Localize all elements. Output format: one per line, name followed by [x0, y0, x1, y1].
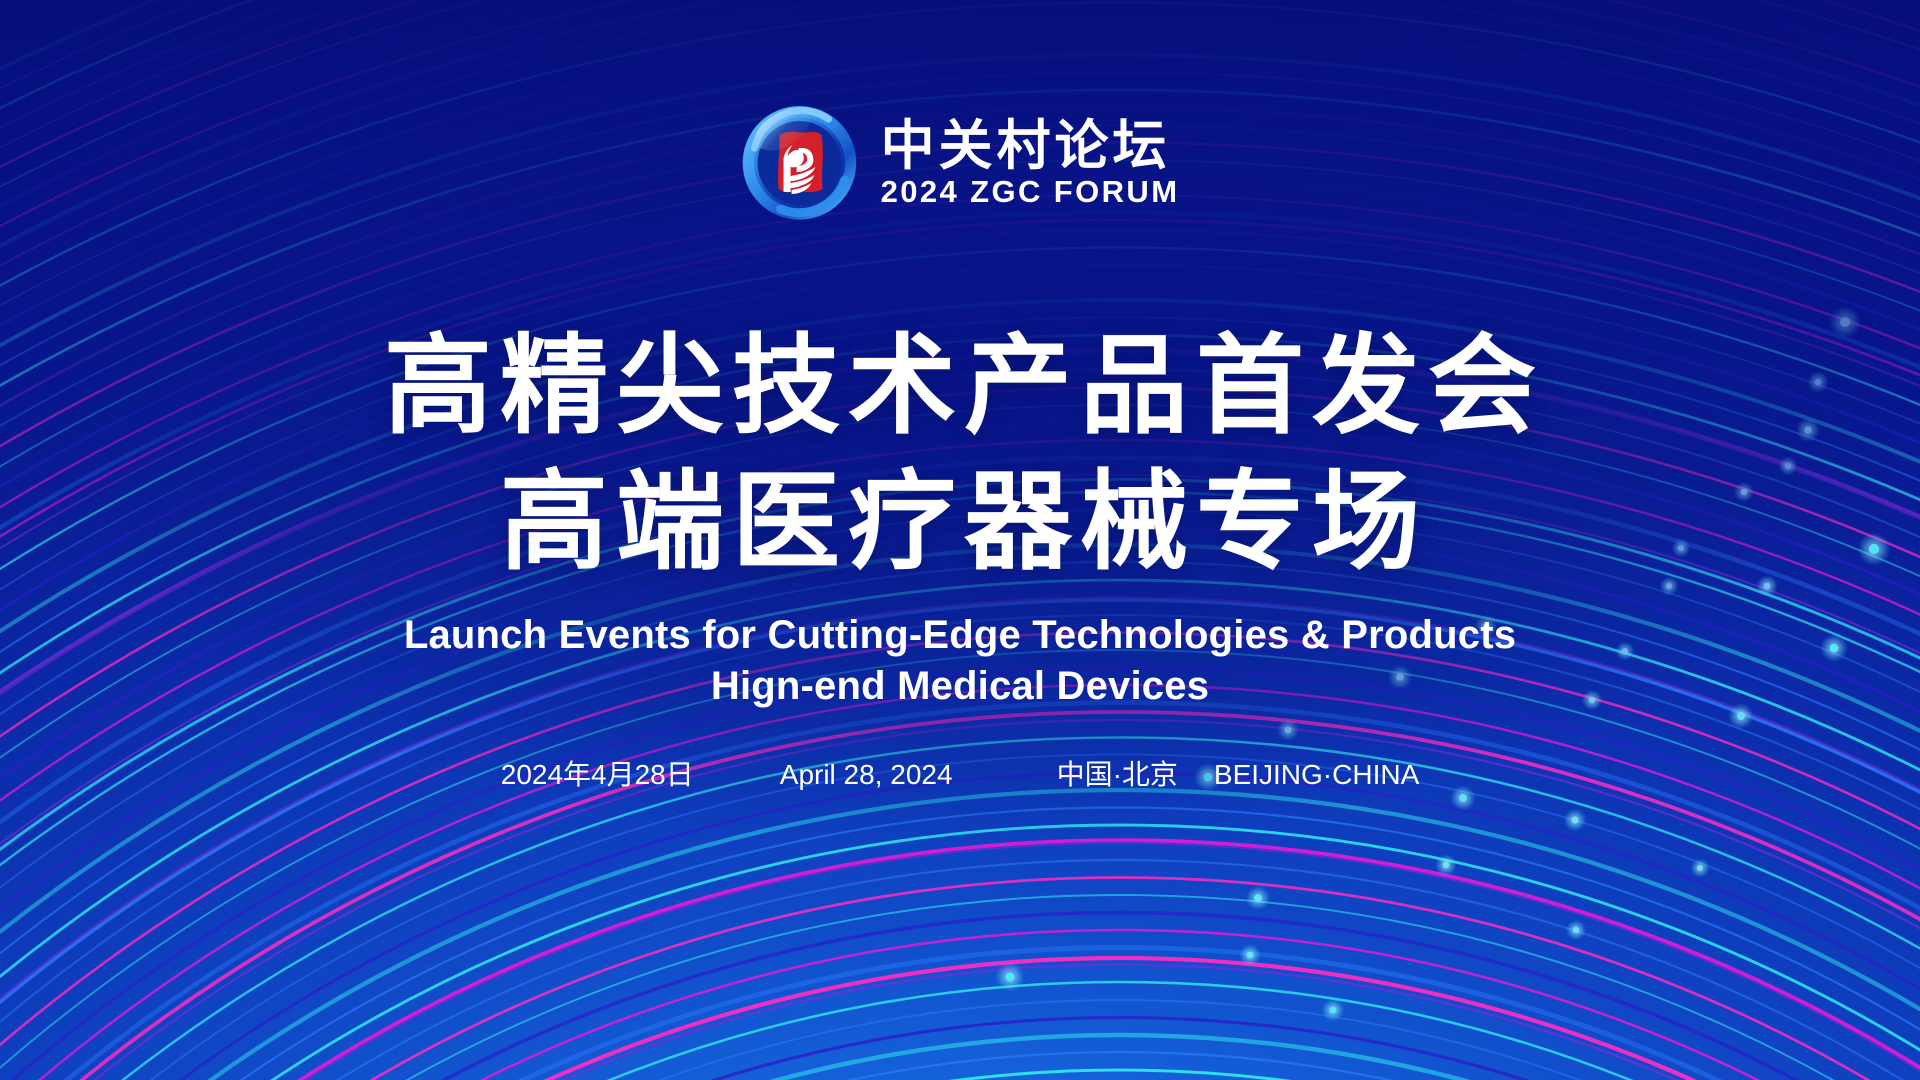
- page-subtitle: Launch Events for Cutting-Edge Technolog…: [0, 610, 1920, 712]
- event-banner: 中关村论坛 2024 ZGC FORUM 高精尖技术产品首发会 高端医疗器械专场…: [0, 0, 1920, 1080]
- event-date-en: April 28, 2024: [780, 758, 953, 792]
- subtitle-line-2: Hign-end Medical Devices: [0, 661, 1920, 712]
- logo-wordmark: 中关村论坛 2024 ZGC FORUM: [881, 118, 1180, 209]
- zgc-forum-logo: 中关村论坛 2024 ZGC FORUM: [741, 104, 1180, 222]
- page-title: 高精尖技术产品首发会 高端医疗器械专场: [0, 318, 1920, 590]
- logo-name-en: 2024 ZGC FORUM: [881, 176, 1180, 209]
- subtitle-line-1: Launch Events for Cutting-Edge Technolog…: [0, 610, 1920, 661]
- logo-name-cn: 中关村论坛: [881, 118, 1171, 174]
- banner-content: 中关村论坛 2024 ZGC FORUM 高精尖技术产品首发会 高端医疗器械专场…: [0, 0, 1920, 1080]
- zgc-forum-emblem-icon: [741, 104, 859, 222]
- headline-line-1: 高精尖技术产品首发会: [0, 318, 1920, 454]
- headline-line-2: 高端医疗器械专场: [0, 454, 1920, 590]
- event-location-en: BEIJING·CHINA: [1214, 758, 1419, 792]
- event-location-cn: 中国·北京: [1057, 758, 1178, 792]
- event-date-cn: 2024年4月28日: [501, 758, 694, 792]
- event-meta: 2024年4月28日 April 28, 2024 中国·北京 BEIJING·…: [0, 758, 1920, 792]
